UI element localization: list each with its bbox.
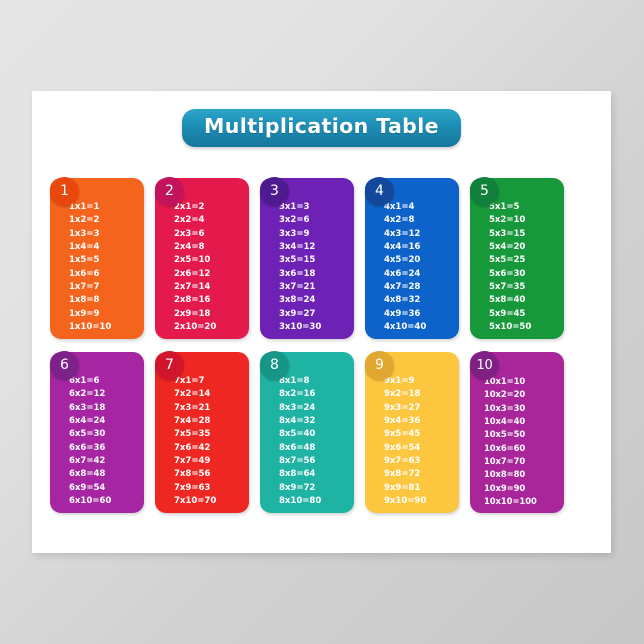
multiplication-line-list: 3x1=33x2=63x3=93x4=123x5=153x6=183x7=213… (260, 201, 354, 334)
multiplication-line: 1x5=5 (69, 254, 144, 267)
multiplication-line: 7x3=21 (174, 402, 249, 415)
multiplication-line: 7x5=35 (174, 428, 249, 441)
card-number-label: 9 (375, 358, 384, 373)
card-row-top: 1x1=11x2=21x3=31x4=41x5=51x6=61x7=71x8=8… (50, 178, 593, 339)
multiplication-card-slot: 1x1=11x2=21x3=31x4=41x5=51x6=61x7=71x8=8… (50, 178, 144, 339)
page-title: Multiplication Table (204, 116, 439, 138)
multiplication-line: 10x9=90 (484, 482, 564, 495)
multiplication-card-slot: 6x1=66x2=126x3=186x4=246x5=306x6=366x7=4… (50, 352, 144, 513)
multiplication-line: 8x1=8 (279, 375, 354, 388)
multiplication-line: 4x4=16 (384, 241, 459, 254)
multiplication-line: 7x7=49 (174, 455, 249, 468)
multiplication-card-slot: 4x1=44x2=84x3=124x4=164x5=204x6=244x7=28… (365, 178, 459, 339)
multiplication-line: 4x2=8 (384, 214, 459, 227)
multiplication-line: 7x10=70 (174, 495, 249, 508)
multiplication-line: 10x5=50 (484, 428, 564, 441)
multiplication-line: 7x2=14 (174, 388, 249, 401)
multiplication-line: 1x2=2 (69, 214, 144, 227)
multiplication-line-list: 7x1=77x2=147x3=217x4=287x5=357x6=427x7=4… (155, 375, 249, 508)
multiplication-line-list: 6x1=66x2=126x3=186x4=246x5=306x6=366x7=4… (50, 375, 144, 508)
multiplication-line: 9x1=9 (384, 375, 459, 388)
card-number-badge: 3 (260, 177, 289, 206)
multiplication-line: 3x6=18 (279, 268, 354, 281)
multiplication-line: 2x1=2 (174, 201, 249, 214)
multiplication-line: 8x6=48 (279, 442, 354, 455)
multiplication-line-list: 2x1=22x2=42x3=62x4=82x5=102x6=122x7=142x… (155, 201, 249, 334)
multiplication-line: 4x10=40 (384, 321, 459, 334)
multiplication-line: 1x10=10 (69, 321, 144, 334)
multiplication-line: 2x5=10 (174, 254, 249, 267)
multiplication-line: 3x8=24 (279, 294, 354, 307)
multiplication-line: 5x4=20 (489, 241, 564, 254)
multiplication-line-list: 1x1=11x2=21x3=31x4=41x5=51x6=61x7=71x8=8… (50, 201, 144, 334)
card-number-label: 5 (480, 184, 489, 199)
multiplication-card-slot: 9x1=99x2=189x3=279x4=369x5=459x6=549x7=6… (365, 352, 459, 513)
card-number-badge: 5 (470, 177, 499, 206)
multiplication-line: 5x1=5 (489, 201, 564, 214)
multiplication-line: 5x10=50 (489, 321, 564, 334)
multiplication-card-slot: 2x1=22x2=42x3=62x4=82x5=102x6=122x7=142x… (155, 178, 249, 339)
multiplication-line: 2x6=12 (174, 268, 249, 281)
multiplication-line: 4x5=20 (384, 254, 459, 267)
card-number-badge: 7 (155, 351, 184, 380)
multiplication-line: 8x4=32 (279, 415, 354, 428)
multiplication-line: 3x5=15 (279, 254, 354, 267)
multiplication-line: 10x2=20 (484, 388, 564, 401)
multiplication-card-slot: 7x1=77x2=147x3=217x4=287x5=357x6=427x7=4… (155, 352, 249, 513)
multiplication-line: 4x7=28 (384, 281, 459, 294)
multiplication-line: 2x7=14 (174, 281, 249, 294)
multiplication-line-list: 9x1=99x2=189x3=279x4=369x5=459x6=549x7=6… (365, 375, 459, 508)
card-number-badge: 1 (50, 177, 79, 206)
multiplication-line-list: 4x1=44x2=84x3=124x4=164x5=204x6=244x7=28… (365, 201, 459, 334)
multiplication-line: 6x3=18 (69, 402, 144, 415)
multiplication-line: 1x3=3 (69, 228, 144, 241)
card-number-badge: 6 (50, 351, 79, 380)
multiplication-line: 10x4=40 (484, 415, 564, 428)
card-number-badge: 4 (365, 177, 394, 206)
multiplication-line: 1x8=8 (69, 294, 144, 307)
multiplication-line: 7x8=56 (174, 468, 249, 481)
multiplication-line: 8x7=56 (279, 455, 354, 468)
multiplication-line: 3x4=12 (279, 241, 354, 254)
card-row-bottom: 6x1=66x2=126x3=186x4=246x5=306x6=366x7=4… (50, 352, 593, 513)
title-badge: Multiplication Table (182, 109, 461, 147)
multiplication-line: 8x2=16 (279, 388, 354, 401)
multiplication-card-grid: 1x1=11x2=21x3=31x4=41x5=51x6=61x7=71x8=8… (50, 178, 593, 526)
multiplication-line: 6x10=60 (69, 495, 144, 508)
card-number-label: 3 (270, 184, 279, 199)
multiplication-card-slot: 10x1=1010x2=2010x3=3010x4=4010x5=5010x6=… (470, 352, 564, 513)
poster-sheet: Multiplication Table 1x1=11x2=21x3=31x4=… (32, 91, 611, 553)
multiplication-line: 6x2=12 (69, 388, 144, 401)
multiplication-line: 9x7=63 (384, 455, 459, 468)
multiplication-line: 6x6=36 (69, 442, 144, 455)
multiplication-line: 6x4=24 (69, 415, 144, 428)
multiplication-line: 1x6=6 (69, 268, 144, 281)
card-number-badge: 8 (260, 351, 289, 380)
multiplication-line: 4x6=24 (384, 268, 459, 281)
multiplication-line: 10x8=80 (484, 468, 564, 481)
card-number-label: 7 (165, 358, 174, 373)
multiplication-line: 1x4=4 (69, 241, 144, 254)
multiplication-line: 2x9=18 (174, 308, 249, 321)
multiplication-line: 3x1=3 (279, 201, 354, 214)
poster-canvas: Multiplication Table 1x1=11x2=21x3=31x4=… (0, 0, 644, 644)
multiplication-line: 2x8=16 (174, 294, 249, 307)
multiplication-line: 7x1=7 (174, 375, 249, 388)
card-number-badge: 2 (155, 177, 184, 206)
multiplication-line: 6x5=30 (69, 428, 144, 441)
multiplication-line: 6x1=6 (69, 375, 144, 388)
multiplication-line: 7x9=63 (174, 482, 249, 495)
multiplication-line: 3x10=30 (279, 321, 354, 334)
multiplication-line: 9x10=90 (384, 495, 459, 508)
multiplication-line: 9x6=54 (384, 442, 459, 455)
multiplication-line: 3x2=6 (279, 214, 354, 227)
multiplication-line: 5x6=30 (489, 268, 564, 281)
multiplication-line: 8x8=64 (279, 468, 354, 481)
multiplication-line: 3x3=9 (279, 228, 354, 241)
multiplication-line: 2x10=20 (174, 321, 249, 334)
multiplication-line: 1x7=7 (69, 281, 144, 294)
multiplication-line: 5x5=25 (489, 254, 564, 267)
multiplication-line-list: 10x1=1010x2=2010x3=3010x4=4010x5=5010x6=… (470, 375, 564, 508)
multiplication-line: 2x3=6 (174, 228, 249, 241)
card-number-badge: 10 (470, 351, 499, 380)
multiplication-line: 9x4=36 (384, 415, 459, 428)
multiplication-line: 8x3=24 (279, 402, 354, 415)
multiplication-line: 6x8=48 (69, 468, 144, 481)
multiplication-card-slot: 5x1=55x2=105x3=155x4=205x5=255x6=305x7=3… (470, 178, 564, 339)
multiplication-line: 3x7=21 (279, 281, 354, 294)
multiplication-line: 1x9=9 (69, 308, 144, 321)
card-number-label: 4 (375, 184, 384, 199)
multiplication-line-list: 8x1=88x2=168x3=248x4=328x5=408x6=488x7=5… (260, 375, 354, 508)
poster-title-area: Multiplication Table (32, 109, 611, 147)
card-number-label: 6 (60, 358, 69, 373)
multiplication-line: 6x7=42 (69, 455, 144, 468)
multiplication-line: 5x3=15 (489, 228, 564, 241)
multiplication-line: 10x7=70 (484, 455, 564, 468)
multiplication-line: 10x6=60 (484, 442, 564, 455)
multiplication-line: 9x5=45 (384, 428, 459, 441)
multiplication-card-slot: 8x1=88x2=168x3=248x4=328x5=408x6=488x7=5… (260, 352, 354, 513)
multiplication-line: 8x9=72 (279, 482, 354, 495)
multiplication-line: 4x9=36 (384, 308, 459, 321)
card-number-label: 8 (270, 358, 279, 373)
multiplication-line: 4x1=4 (384, 201, 459, 214)
multiplication-line: 5x9=45 (489, 308, 564, 321)
card-number-label: 10 (477, 359, 493, 373)
multiplication-line: 1x1=1 (69, 201, 144, 214)
multiplication-line: 8x5=40 (279, 428, 354, 441)
multiplication-line-list: 5x1=55x2=105x3=155x4=205x5=255x6=305x7=3… (470, 201, 564, 334)
multiplication-line: 5x2=10 (489, 214, 564, 227)
multiplication-line: 10x10=100 (484, 495, 564, 508)
multiplication-line: 8x10=80 (279, 495, 354, 508)
multiplication-line: 7x4=28 (174, 415, 249, 428)
card-number-label: 2 (165, 184, 174, 199)
card-number-badge: 9 (365, 351, 394, 380)
multiplication-line: 4x3=12 (384, 228, 459, 241)
multiplication-line: 5x7=35 (489, 281, 564, 294)
multiplication-line: 9x3=27 (384, 402, 459, 415)
multiplication-line: 9x8=72 (384, 468, 459, 481)
multiplication-line: 10x1=10 (484, 375, 564, 388)
multiplication-line: 9x2=18 (384, 388, 459, 401)
multiplication-line: 4x8=32 (384, 294, 459, 307)
multiplication-line: 9x9=81 (384, 482, 459, 495)
multiplication-line: 2x2=4 (174, 214, 249, 227)
multiplication-line: 10x3=30 (484, 402, 564, 415)
multiplication-card-slot: 3x1=33x2=63x3=93x4=123x5=153x6=183x7=213… (260, 178, 354, 339)
multiplication-line: 5x8=40 (489, 294, 564, 307)
multiplication-line: 3x9=27 (279, 308, 354, 321)
multiplication-line: 7x6=42 (174, 442, 249, 455)
multiplication-line: 2x4=8 (174, 241, 249, 254)
multiplication-line: 6x9=54 (69, 482, 144, 495)
card-number-label: 1 (60, 184, 69, 199)
